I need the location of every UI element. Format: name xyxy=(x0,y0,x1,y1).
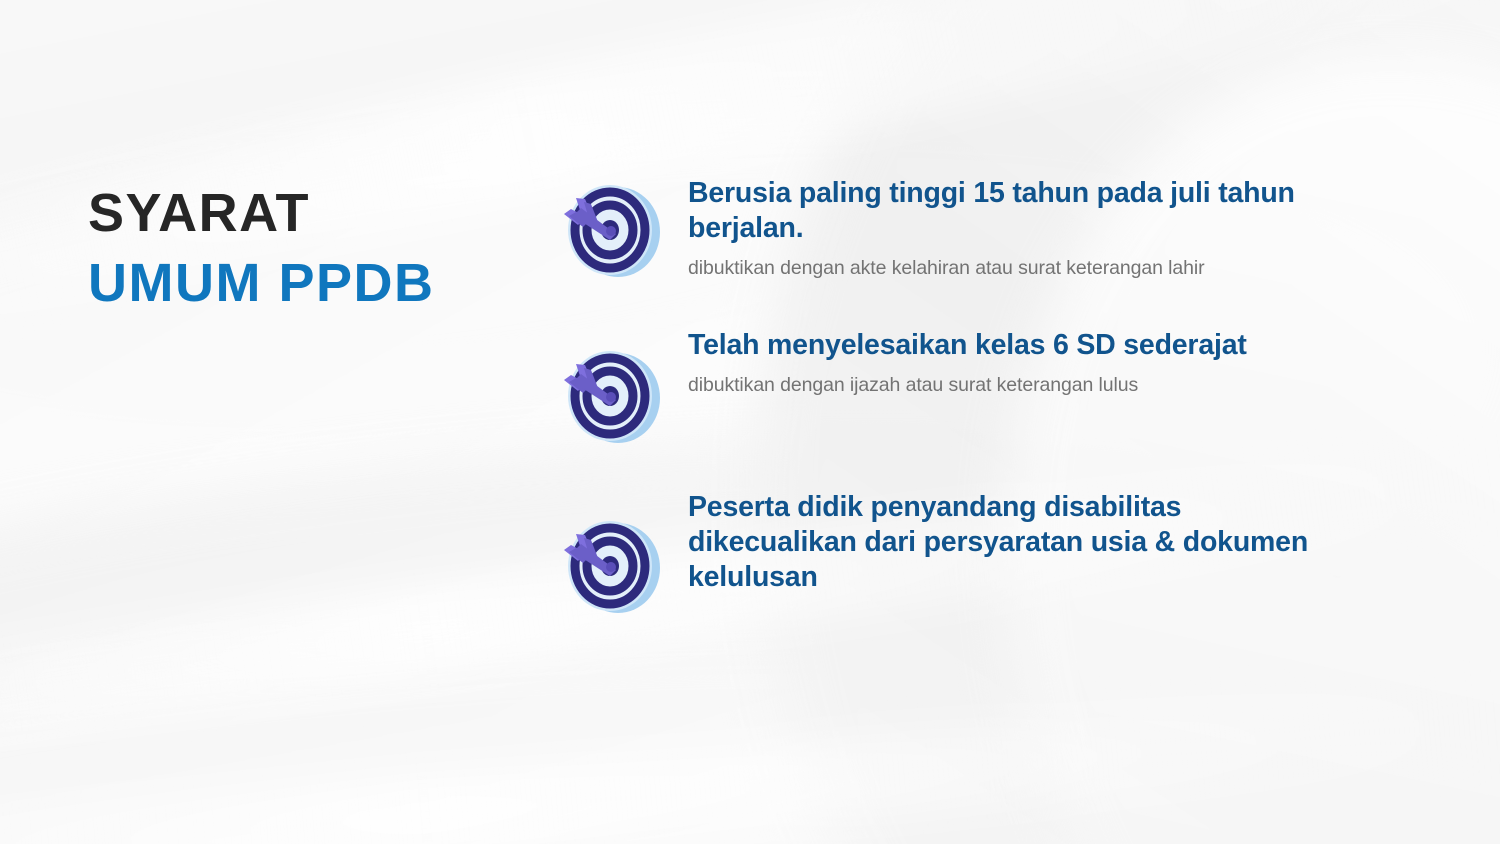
list-item-text: Peserta didik penyandang disabilitas dik… xyxy=(688,486,1416,594)
slide-canvas: SYARAT UMUM PPDB xyxy=(0,0,1500,844)
list-item: Telah menyelesaikan kelas 6 SD sederajat… xyxy=(556,324,1416,450)
list-item-subtitle: dibuktikan dengan akte kelahiran atau su… xyxy=(688,255,1416,281)
list-item-heading: Peserta didik penyandang disabilitas dik… xyxy=(688,490,1348,594)
dartboard-target-icon xyxy=(556,172,666,284)
page-title: SYARAT UMUM PPDB xyxy=(88,186,435,310)
title-line-secondary: UMUM PPDB xyxy=(88,256,435,310)
list-item-subtitle: dibuktikan dengan ijazah atau surat kete… xyxy=(688,372,1416,398)
list-item-text: Telah menyelesaikan kelas 6 SD sederajat… xyxy=(688,324,1416,398)
dartboard-target-icon xyxy=(556,508,666,620)
list-item-heading: Berusia paling tinggi 15 tahun pada juli… xyxy=(688,176,1348,246)
title-line-primary: SYARAT xyxy=(88,186,435,240)
list-item-text: Berusia paling tinggi 15 tahun pada juli… xyxy=(688,172,1416,281)
list-item: Berusia paling tinggi 15 tahun pada juli… xyxy=(556,172,1416,284)
dartboard-target-icon xyxy=(556,338,666,450)
light-streak-3 xyxy=(0,682,1500,844)
requirements-list: Berusia paling tinggi 15 tahun pada juli… xyxy=(556,172,1416,620)
list-item-heading: Telah menyelesaikan kelas 6 SD sederajat xyxy=(688,328,1348,363)
list-item: Peserta didik penyandang disabilitas dik… xyxy=(556,486,1416,620)
